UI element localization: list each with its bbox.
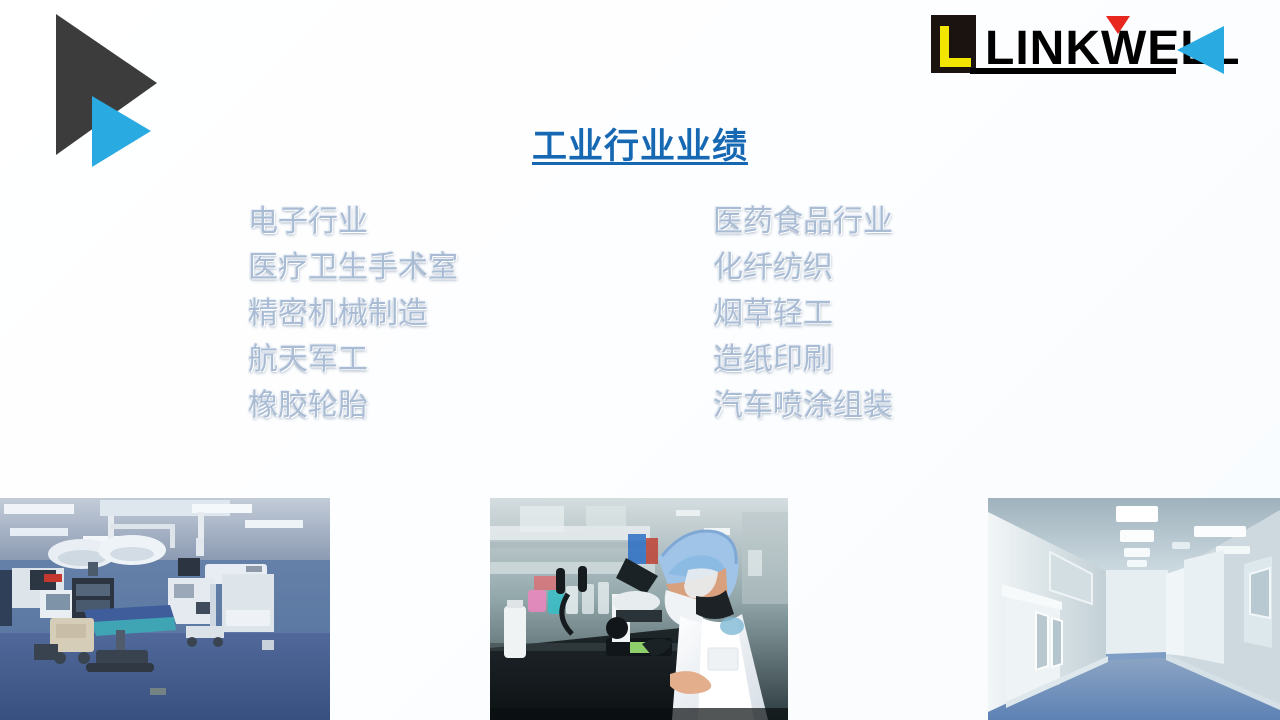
cleanroom-corridor-photo (988, 498, 1280, 720)
play-arrow-mark (0, 0, 200, 200)
list-item: 医疗卫生手术室 (248, 245, 713, 291)
industry-list-right: 医药食品行业 化纤纺织 烟草轻工 造纸印刷 汽车喷涂组装 (713, 199, 1048, 429)
page-title: 工业行业业绩 (0, 118, 1280, 169)
laboratory-microscope-photo (490, 498, 788, 720)
list-item: 造纸印刷 (713, 337, 1048, 383)
list-item: 橡胶轮胎 (248, 383, 713, 429)
list-item: 化纤纺织 (713, 245, 1048, 291)
presentation-slide: LINKWELL 工业行业业绩 电子行业 医疗卫生手术室 精密机械制造 航天军工… (0, 0, 1280, 720)
industry-list-left: 电子行业 医疗卫生手术室 精密机械制造 航天军工 橡胶轮胎 (248, 199, 713, 429)
linkwell-logo: LINKWELL (928, 12, 1238, 78)
logo-underline-bar (970, 68, 1176, 74)
list-item: 烟草轻工 (713, 291, 1048, 337)
list-item: 航天军工 (248, 337, 713, 383)
list-item: 精密机械制造 (248, 291, 713, 337)
operating-room-photo (0, 498, 330, 720)
industry-lists: 电子行业 医疗卫生手术室 精密机械制造 航天军工 橡胶轮胎 医药食品行业 化纤纺… (248, 199, 1048, 429)
list-item: 电子行业 (248, 199, 713, 245)
list-item: 汽车喷涂组装 (713, 383, 1048, 429)
list-item: 医药食品行业 (713, 199, 1048, 245)
